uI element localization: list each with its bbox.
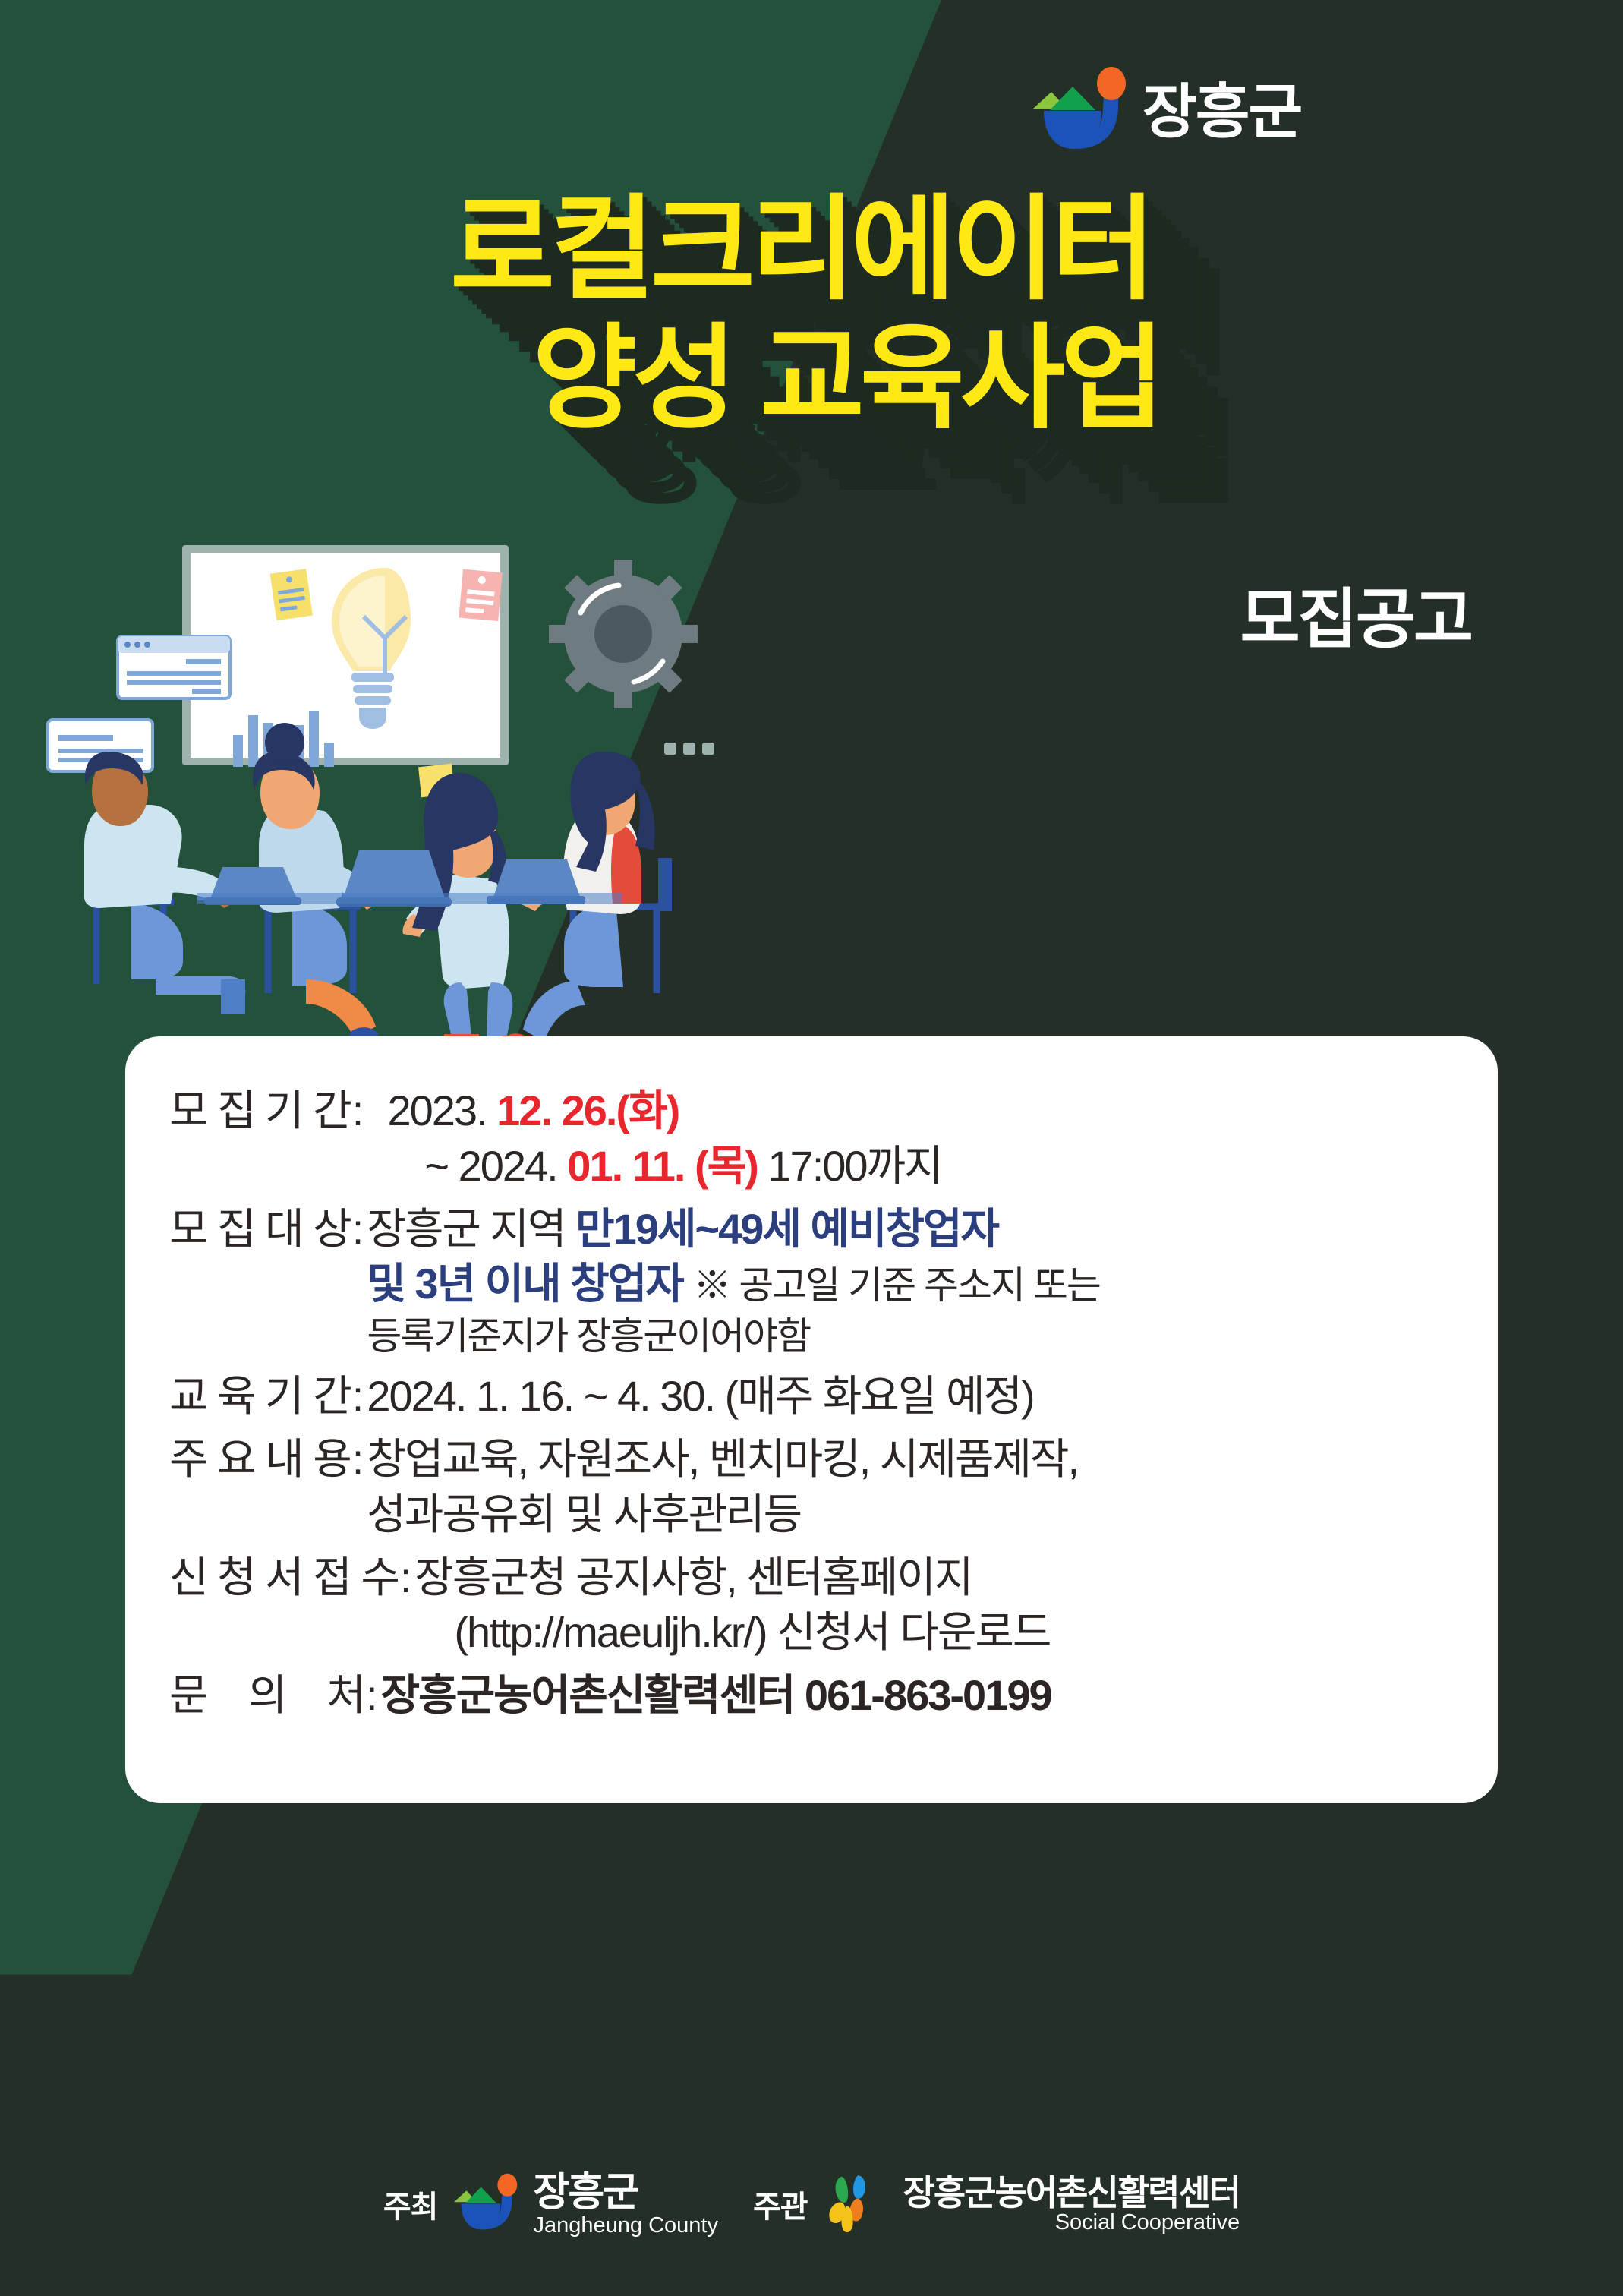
value-curriculum: 창업교육, 자원조사, 벤치마킹, 시제품제작, 성과공유회 및 사후관리등 — [367, 1432, 1454, 1543]
info-row-eligibility: 모 집 대 상 : 장흥군 지역 만19세~49세 예비창업자 및 3년 이내 … — [169, 1202, 1454, 1362]
info-row-application: 신 청 서 접 수 : 장흥군청 공지사항, 센터홈페이지 (http://ma… — [169, 1550, 1454, 1661]
title-line-2: 양성 교육사업 — [35, 319, 1623, 439]
value-contact: 장흥군농어촌신활력센터 061-863-0199 — [381, 1668, 1454, 1724]
label-curriculum: 주 요 내 용 — [169, 1432, 351, 1487]
county-logo: 장흥군 — [1029, 67, 1301, 156]
value-recruit-period: 2023. 12. 26.(화) ~ 2024. 01. 11. (목) 17:… — [367, 1083, 1454, 1194]
eligibility-note-1: ※ 공고일 기준 주소지 또는 — [693, 1264, 1100, 1307]
info-row-training-period: 교 육 기 간 : 2024. 1. 16. ~ 4. 30. (매주 화요일 … — [169, 1369, 1454, 1424]
footer-organizer-name-kr: 장흥군농어촌신활력센터 — [903, 2175, 1240, 2211]
page-title: 로컬크리에이터 양성 교육사업 — [0, 190, 1623, 438]
colon: : — [351, 1432, 367, 1487]
info-row-contact: 문 의 처 : 장흥군농어촌신활력센터 061-863-0199 — [169, 1668, 1454, 1724]
info-card: 모 집 기 간 : 2023. 12. 26.(화) ~ 2024. 01. 1… — [125, 1036, 1498, 1803]
title-line-1: 로컬크리에이터 — [0, 190, 1612, 310]
jangheung-county-logo-icon — [1029, 67, 1129, 156]
label-application: 신 청 서 접 수 — [169, 1550, 399, 1606]
footer-organizer-name-en: Social Cooperative — [903, 2211, 1240, 2234]
label-eligibility: 모 집 대 상 — [169, 1202, 351, 1257]
recruit-deadline-time: 17:00까지 — [767, 1142, 941, 1190]
info-row-curriculum: 주 요 내 용 : 창업교육, 자원조사, 벤치마킹, 시제품제작, 성과공유회… — [169, 1432, 1454, 1543]
footer: 주최 장흥군 Jangheung County 주관 — [0, 2172, 1623, 2237]
colon: : — [351, 1083, 367, 1139]
recruit-date-end: 01. 11. (목) — [567, 1142, 758, 1190]
colon: : — [399, 1550, 415, 1606]
application-channels: 장흥군청 공지사항, 센터홈페이지 — [414, 1550, 1454, 1606]
social-cooperative-logo-icon — [821, 2173, 890, 2235]
colon: : — [364, 1668, 381, 1724]
recruit-year-start: 2023. — [387, 1086, 486, 1134]
eligibility-note-2: 등록기준지가 장흥군이어야함 — [367, 1312, 1454, 1361]
title-subtitle: 모집공고 — [1240, 566, 1471, 661]
jangheung-county-logo-icon — [451, 2173, 519, 2235]
county-logo-text: 장흥군 — [1142, 82, 1301, 141]
footer-host-name-kr: 장흥군 — [533, 2172, 717, 2214]
footer-organizer-names: 장흥군농어촌신활력센터 Social Cooperative — [903, 2175, 1240, 2234]
footer-organizer-role: 주관 — [753, 2182, 808, 2226]
curriculum-line-1: 창업교육, 자원조사, 벤치마킹, 시제품제작, — [367, 1432, 1454, 1487]
label-recruit-period: 모 집 기 간 — [169, 1083, 351, 1139]
footer-host-role: 주최 — [383, 2182, 438, 2226]
footer-organizer: 주관 장흥군농어촌신활력센터 Social Cooperative — [753, 2173, 1240, 2235]
value-eligibility: 장흥군 지역 만19세~49세 예비창업자 및 3년 이내 창업자 ※ 공고일 … — [367, 1202, 1454, 1362]
curriculum-line-2: 성과공유회 및 사후관리등 — [367, 1487, 1454, 1543]
info-row-recruit-period: 모 집 기 간 : 2023. 12. 26.(화) ~ 2024. 01. 1… — [169, 1083, 1454, 1194]
value-training-period: 2024. 1. 16. ~ 4. 30. (매주 화요일 예정) — [367, 1369, 1454, 1424]
recruit-year-end: ~ 2024. — [424, 1142, 556, 1190]
recruit-date-start: 12. 26.(화) — [496, 1086, 679, 1134]
value-application: 장흥군청 공지사항, 센터홈페이지 (http://maeuljh.kr/) 신… — [414, 1550, 1454, 1661]
label-training-period: 교 육 기 간 — [169, 1369, 351, 1424]
colon: : — [351, 1202, 367, 1257]
footer-host-name-en: Jangheung County — [533, 2214, 717, 2237]
label-contact: 문 의 처 — [169, 1668, 364, 1724]
application-url[interactable]: (http://maeuljh.kr/) 신청서 다운로드 — [414, 1605, 1454, 1660]
footer-host-names: 장흥군 Jangheung County — [533, 2172, 717, 2237]
footer-host: 주최 장흥군 Jangheung County — [383, 2172, 718, 2237]
eligibility-founder-years: 및 3년 이내 창업자 — [367, 1260, 682, 1307]
eligibility-region: 장흥군 지역 — [367, 1205, 565, 1253]
team-meeting-illustration — [42, 524, 748, 1048]
colon: : — [351, 1369, 367, 1424]
eligibility-age-group: 만19세~49세 예비창업자 — [575, 1205, 998, 1253]
